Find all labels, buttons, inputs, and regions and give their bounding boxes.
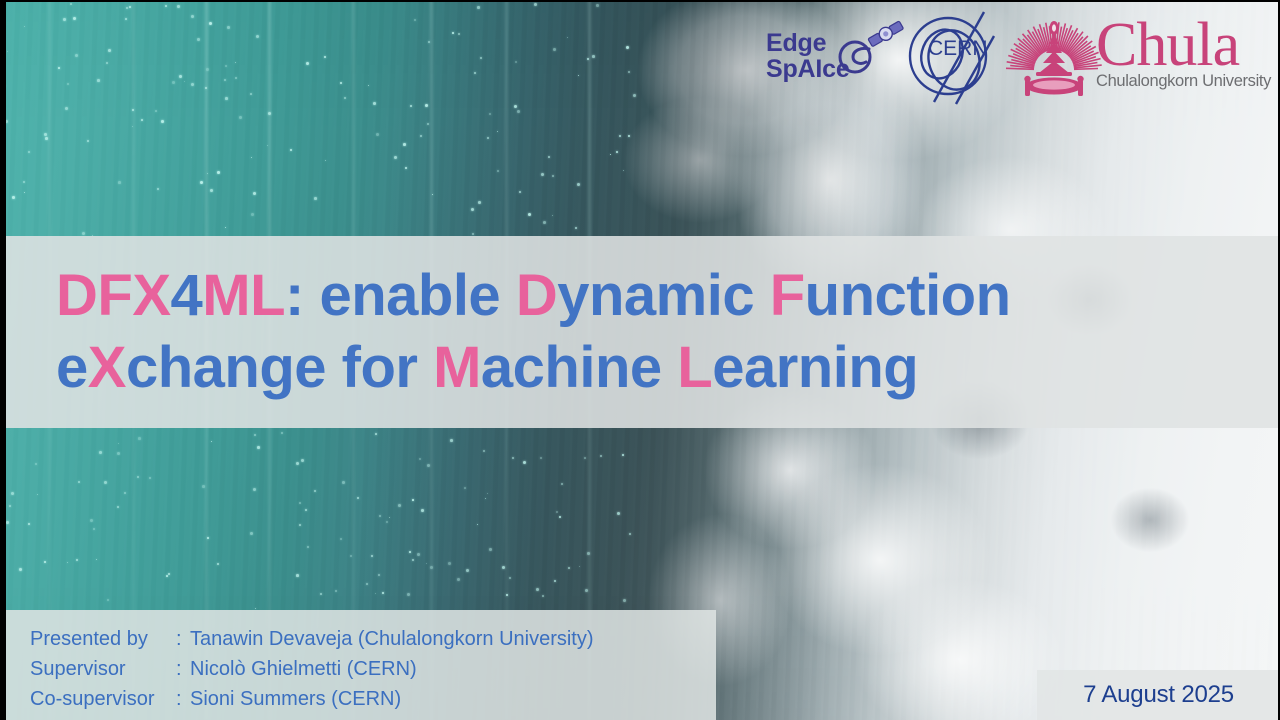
credits-label: Co-supervisor	[30, 684, 176, 714]
title-run-pink-6: F	[770, 263, 805, 328]
water-glint	[224, 79, 226, 81]
water-glint	[290, 149, 292, 151]
water-glint	[45, 137, 48, 140]
page-title-line-1: DFX4ML: enable Dynamic Function	[56, 260, 1280, 332]
water-glint	[227, 26, 230, 29]
water-glint	[417, 553, 420, 556]
water-glint	[340, 538, 342, 540]
water-glint	[394, 156, 397, 159]
water-glint	[425, 104, 428, 107]
water-glint	[458, 33, 460, 35]
water-glint	[305, 509, 307, 511]
water-glint	[217, 171, 220, 174]
water-glint	[506, 594, 508, 596]
title-run-blue-6: earning	[712, 335, 918, 400]
water-glint	[44, 561, 46, 563]
water-glint	[93, 528, 95, 530]
date-banner: 7 August 2025	[1037, 670, 1280, 720]
water-glint	[296, 574, 299, 577]
credits-banner: Presented by:Tanawin Devaveja (Chulalong…	[0, 610, 716, 720]
credits-value: Sioni Summers (CERN)	[190, 684, 401, 714]
water-glint	[622, 454, 624, 456]
water-glint	[70, 3, 72, 5]
title-run-blue-2: change for	[126, 335, 433, 400]
water-glint	[225, 227, 226, 228]
title-run-pink-2: ML	[202, 263, 285, 328]
water-glint	[427, 464, 430, 467]
credits-colon: :	[176, 654, 190, 684]
water-glint	[623, 599, 626, 602]
title-run-blue-4: achine	[481, 335, 677, 400]
water-glint	[378, 574, 380, 576]
water-glint	[466, 569, 469, 572]
water-glint	[9, 505, 11, 507]
water-glint	[161, 120, 164, 123]
water-glint	[592, 55, 595, 58]
water-glint	[97, 79, 100, 82]
water-glint	[28, 523, 30, 525]
water-glint	[534, 3, 537, 6]
water-glint	[616, 151, 618, 153]
water-glint	[450, 439, 453, 442]
frame-edge-left	[0, 0, 6, 720]
water-glint	[87, 140, 89, 142]
water-glint	[207, 537, 209, 539]
water-glint	[118, 181, 121, 184]
water-glint	[596, 4, 599, 7]
water-glint	[117, 506, 119, 508]
credits-value: Nicolò Ghielmetti (CERN)	[190, 654, 417, 684]
water-glint	[543, 221, 546, 224]
water-glint	[407, 593, 410, 596]
title-run-blue-0: e	[56, 335, 88, 400]
date-text: 7 August 2025	[1083, 681, 1234, 709]
water-glint	[568, 567, 570, 569]
water-glint	[357, 497, 359, 499]
water-glint	[125, 18, 127, 20]
credits-colon: :	[176, 684, 190, 714]
water-glint	[600, 455, 602, 457]
water-glint	[177, 5, 180, 8]
water-glint	[477, 6, 480, 9]
water-glint	[409, 551, 411, 553]
water-glint	[250, 93, 252, 95]
page-title-line-2: eXchange for Machine Learning	[56, 332, 1280, 404]
water-glint	[420, 135, 422, 137]
water-glint	[421, 509, 424, 512]
water-glint	[410, 105, 412, 107]
water-glint	[28, 151, 30, 153]
water-glint	[251, 213, 254, 216]
water-glint	[108, 49, 111, 52]
water-glint	[106, 62, 108, 64]
title-banner: DFX4ML: enable Dynamic Function eXchange…	[0, 236, 1280, 428]
title-slide: Edge SpAIce	[0, 0, 1280, 720]
title-run-blue-1: 4	[171, 263, 203, 328]
title-run-blue-5: ynamic	[557, 263, 770, 328]
water-glint	[12, 196, 15, 199]
water-glint	[585, 589, 588, 592]
water-glint	[257, 446, 260, 449]
water-glint	[553, 48, 556, 51]
water-glint	[528, 213, 531, 216]
water-glint	[73, 17, 76, 20]
water-glint	[149, 477, 151, 479]
water-glint	[165, 5, 167, 7]
water-glint	[561, 483, 563, 485]
water-glint	[428, 41, 430, 43]
water-glint	[314, 197, 317, 200]
water-glint	[628, 135, 630, 137]
water-glint	[166, 575, 168, 577]
water-glint	[548, 156, 550, 158]
water-glint	[509, 577, 511, 579]
title-run-blue-3: : enable	[285, 263, 516, 328]
water-glint	[141, 119, 143, 121]
water-glint	[256, 35, 259, 38]
water-glint	[202, 485, 205, 488]
water-glint	[412, 499, 414, 501]
water-glint	[78, 481, 80, 483]
water-glint	[540, 457, 542, 459]
water-glint	[129, 6, 131, 8]
title-run-pink-0: DFX	[56, 263, 171, 328]
credits-label: Presented by	[30, 624, 176, 654]
water-glint	[138, 437, 141, 440]
water-glint	[19, 568, 22, 571]
title-run-pink-4: D	[516, 263, 557, 328]
water-glint	[340, 82, 342, 84]
water-glint	[403, 143, 406, 146]
water-glint	[375, 433, 377, 435]
water-glint	[430, 566, 433, 569]
water-glint	[225, 97, 228, 100]
title-run-pink-1: X	[88, 335, 126, 400]
water-glint	[366, 583, 368, 585]
water-glint	[478, 201, 481, 204]
water-glint	[536, 588, 539, 591]
credits-rows: Presented by:Tanawin Devaveja (Chulalong…	[30, 624, 716, 714]
water-glint	[552, 175, 554, 177]
credits-colon: :	[176, 624, 190, 654]
water-glint	[567, 37, 568, 38]
water-glint	[452, 32, 454, 34]
water-glint	[497, 170, 499, 172]
water-glint	[523, 461, 526, 464]
credits-row: Supervisor:Nicolò Ghielmetti (CERN)	[30, 654, 716, 684]
water-glint	[299, 502, 301, 504]
water-glint	[427, 123, 429, 125]
water-glint	[44, 133, 47, 136]
water-glint	[474, 72, 476, 74]
water-glint	[63, 18, 66, 21]
water-glint	[58, 67, 60, 69]
water-glint	[179, 75, 182, 78]
water-glint	[320, 593, 322, 595]
water-glint	[584, 457, 586, 459]
water-glint	[299, 524, 301, 526]
title-run-pink-5: L	[677, 335, 712, 400]
water-glint	[559, 516, 561, 518]
title-run-pink-3: M	[433, 335, 481, 400]
credits-row: Co-supervisor:Sioni Summers (CERN)	[30, 684, 716, 714]
water-glint	[373, 102, 376, 105]
water-glint	[489, 548, 492, 551]
water-glint	[350, 555, 352, 557]
credits-row: Presented by:Tanawin Devaveja (Chulalong…	[30, 624, 716, 654]
water-glint	[155, 110, 157, 112]
water-glint	[65, 107, 68, 110]
water-glint	[485, 498, 486, 499]
water-glint	[379, 515, 381, 517]
frame-edge-top	[0, 0, 1280, 2]
credits-value: Tanawin Devaveja (Chulalongkorn Universi…	[190, 624, 594, 654]
water-glint	[197, 38, 200, 41]
credits-label: Supervisor	[30, 654, 176, 684]
title-run-blue-7: unction	[805, 263, 1011, 328]
water-glint	[325, 160, 326, 161]
water-glint	[6, 521, 9, 524]
water-glint	[587, 552, 590, 555]
water-glint	[382, 592, 384, 594]
water-glint	[542, 595, 544, 597]
water-glint	[235, 77, 237, 79]
water-glint	[342, 481, 345, 484]
water-glint	[464, 487, 466, 489]
water-glint	[99, 451, 102, 454]
water-glint	[107, 599, 109, 601]
water-glint	[619, 135, 621, 137]
